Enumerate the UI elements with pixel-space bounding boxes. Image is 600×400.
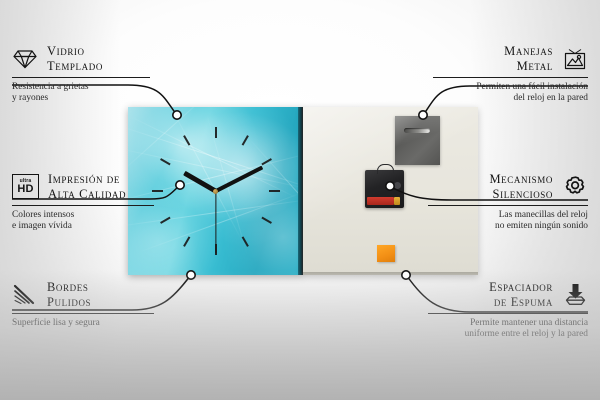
callout-rule: [12, 77, 150, 78]
callout-description: Permite mantener una distancia uniforme …: [428, 318, 588, 341]
hanger-keyhole-slot: [404, 128, 430, 133]
clock-tick: [216, 190, 280, 192]
foam-spacer-pad: [377, 245, 395, 262]
callout-rule: [428, 313, 588, 314]
battery: [367, 197, 394, 205]
callout-rule: [12, 313, 154, 314]
callout-title: Bordes Pulidos: [47, 280, 91, 309]
ultra-hd-icon: ultra HD: [12, 174, 39, 199]
metal-hanger-plate: [395, 116, 440, 165]
callout-vidrio-templado: Vidrio Templado Resistencia a grietas y …: [12, 44, 157, 105]
infographic-canvas: Vidrio Templado Resistencia a grietas y …: [0, 0, 600, 400]
wall-frame-hanger-icon: [562, 46, 588, 72]
callout-espaciador-espuma: Espaciador de Espuma Permite mantener un…: [428, 280, 588, 341]
callout-rule: [433, 77, 588, 78]
clock-movement-housing: [365, 170, 404, 208]
callout-title: Vidrio Templado: [47, 44, 103, 73]
clock-second-hand: [215, 191, 216, 253]
callout-description: Las manecillas del reloj no emiten ningú…: [428, 210, 588, 233]
gear-icon: [562, 174, 588, 200]
battery-terminal: [394, 197, 400, 205]
callout-bordes-pulidos: Bordes Pulidos Superficie lisa y segura: [12, 280, 162, 329]
product-image: [128, 107, 478, 275]
callout-title: Mecanismo Silencioso: [489, 172, 553, 201]
callout-rule: [12, 205, 154, 206]
movement-adjust-dial: [394, 182, 401, 189]
callout-description: Resistencia a grietas y rayones: [12, 82, 157, 105]
callout-description: Superficie lisa y segura: [12, 318, 162, 329]
callout-title: Impresión de Alta Calidad: [48, 172, 126, 201]
diamond-icon: [12, 46, 38, 72]
clock-tick: [215, 127, 217, 191]
callout-description: Permiten una fácil instalación del reloj…: [433, 82, 588, 105]
callout-title: Manejas Metal: [504, 44, 553, 73]
clock-back-bottom-edge: [303, 272, 478, 275]
down-arrow-pad-icon: [562, 282, 588, 308]
callout-impresion-alta-calidad: ultra HD Impresión de Alta Calidad Color…: [12, 172, 162, 233]
clock-center-hub: [213, 189, 218, 194]
hanger-loop: [377, 164, 394, 174]
callout-title: Espaciador de Espuma: [489, 280, 553, 309]
ultra-hd-icon-hd: HD: [17, 184, 33, 195]
callout-mecanismo-silencioso: Mecanismo Silencioso Las manecillas del …: [428, 172, 588, 233]
polished-edges-icon: [12, 282, 38, 308]
callout-description: Colores intensos e imagen vívida: [12, 210, 162, 233]
callout-manejas-metal: Manejas Metal Permiten una fácil instala…: [433, 44, 588, 105]
callout-rule: [428, 205, 588, 206]
